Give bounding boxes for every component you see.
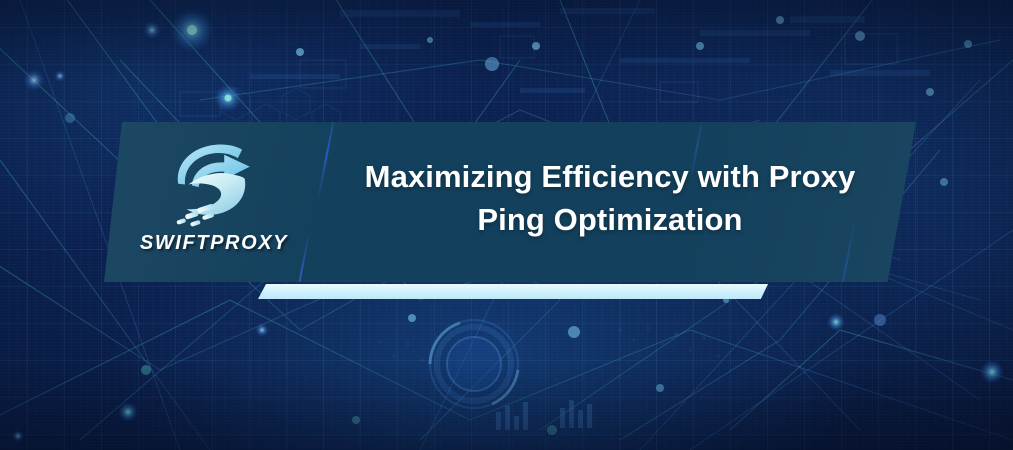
page-title: Maximizing Efficiency with Proxy Ping Op… [330,156,890,242]
brand-name-text: SWIFTPROXY [140,232,288,255]
headline-line-2: Ping Optimization [330,199,890,242]
promo-banner: SWIFTPROXY Maximizing Efficiency with Pr… [0,0,1013,450]
swoosh-arrow-s-logo-icon [162,136,266,228]
headline-line-1: Maximizing Efficiency with Proxy [330,156,890,199]
brand-logo-block[interactable]: SWIFTPROXY [122,136,306,268]
accent-underline-bar [258,284,768,299]
